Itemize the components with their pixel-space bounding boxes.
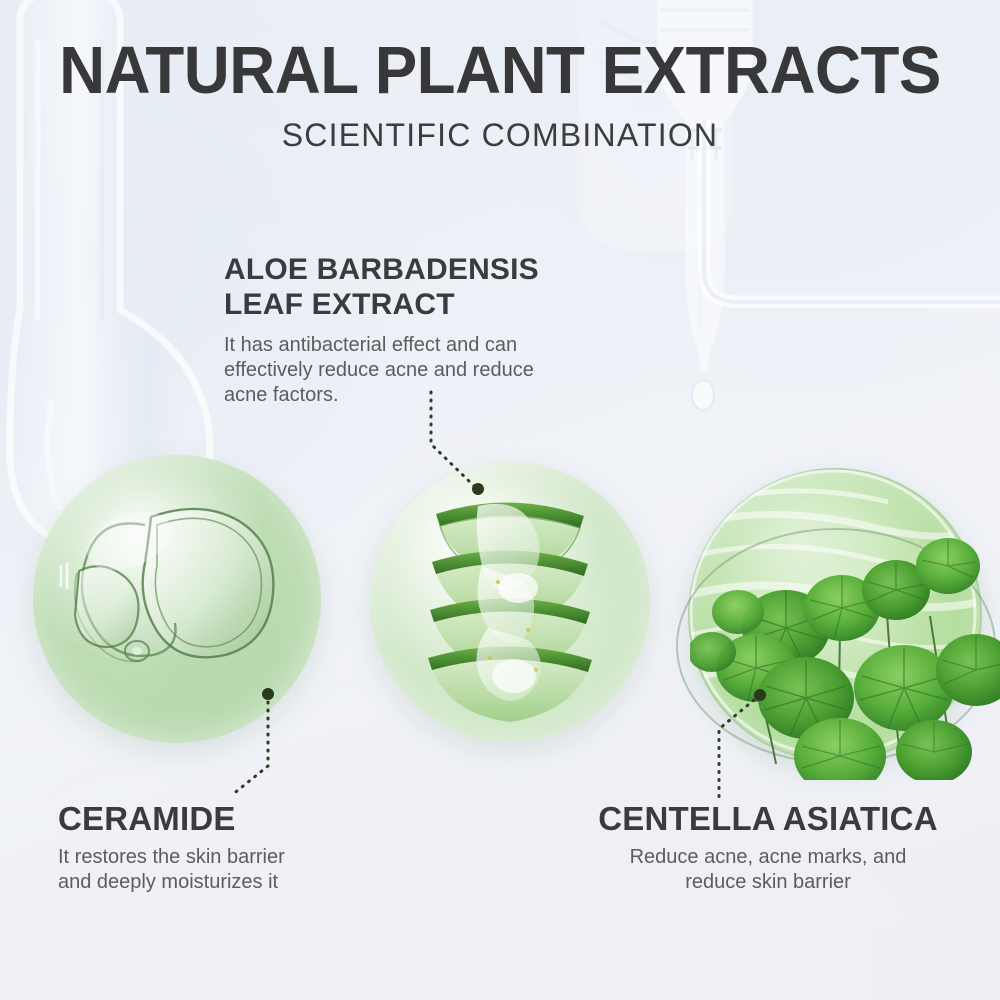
infographic-poster: NATURAL PLANT EXTRACTS SCIENTIFIC COMBIN…: [0, 0, 1000, 1000]
aloe-heading-line2: LEAF EXTRACT: [224, 287, 596, 322]
page-title: NATURAL PLANT EXTRACTS: [25, 34, 975, 108]
aloe-heading-line1: ALOE BARBADENSIS: [224, 252, 596, 287]
page-subtitle: SCIENTIFIC COMBINATION: [0, 116, 1000, 154]
ingredient-label-aloe: ALOE BARBADENSIS LEAF EXTRACT It has ant…: [224, 252, 596, 408]
aloe-desc-line1: It has antibacterial effect and can: [224, 333, 596, 358]
ingredient-label-centella: CENTELLA ASIATICA Reduce acne, acne mark…: [568, 800, 968, 895]
petri-dish-glass-rim: [676, 528, 996, 764]
ceramide-desc-line2: and deeply moisturizes it: [58, 870, 388, 895]
aloe-desc-line2: effectively reduce acne and reduce: [224, 358, 596, 383]
centella-heading: CENTELLA ASIATICA: [568, 800, 968, 838]
falling-droplet-icon: [692, 380, 714, 410]
aloe-desc-line3: acne factors.: [224, 383, 596, 408]
aloe-slices-dish: [370, 462, 650, 742]
ceramide-desc-line1: It restores the skin barrier: [58, 845, 388, 870]
ceramide-gel-dish: [33, 455, 321, 743]
centella-desc-line2: reduce skin barrier: [568, 870, 968, 895]
centella-desc-line1: Reduce acne, acne marks, and: [568, 845, 968, 870]
ingredient-label-ceramide: CERAMIDE It restores the skin barrier an…: [58, 800, 388, 895]
ceramide-heading: CERAMIDE: [58, 800, 388, 838]
